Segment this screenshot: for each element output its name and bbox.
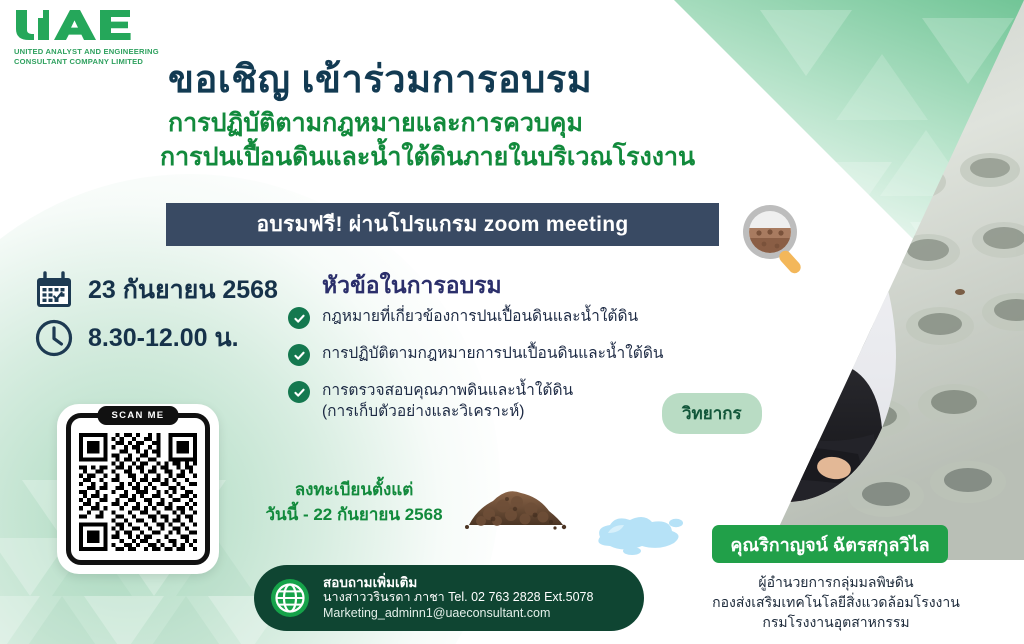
logo-tagline-line-1: UNITED ANALYST AND ENGINEERING <box>14 47 164 57</box>
water-puddle-icon <box>590 513 686 555</box>
logo-tagline: UNITED ANALYST AND ENGINEERING CONSULTAN… <box>14 47 164 67</box>
soil-pile-icon <box>463 481 569 531</box>
subtitle-line-1: การปฏิบัติตามกฎหมายและการควบคุม <box>168 106 695 140</box>
topics-heading: หัวข้อในการอบรม <box>322 268 502 304</box>
page-subtitle: การปฏิบัติตามกฎหมายและการควบคุม การปนเปื… <box>168 106 695 174</box>
topics-list: กฎหมายที่เกี่ยวข้องการปนเปื้อนดินและน้ำใ… <box>288 306 708 436</box>
speaker-name-plate: คุณริกาญจน์ ฉัตรสกุลวิไล <box>712 525 948 563</box>
credential-line-2: กองส่งเสริมเทคโนโลยีสิ่งแวดล้อมโรงงาน <box>648 592 1024 612</box>
poster-root: UNITED ANALYST AND ENGINEERING CONSULTAN… <box>0 0 1024 644</box>
credential-line-3: กรมโรงงานอุตสาหกรรม <box>648 612 1024 632</box>
check-icon <box>288 381 310 403</box>
topic-line-1: การปฏิบัติตามกฎหมายการปนเปื้อนดินและน้ำใ… <box>322 343 664 364</box>
subtitle-line-2: การปนเปื้อนดินและน้ำใต้ดินภายในบริเวณโรง… <box>160 140 695 174</box>
topic-text: การปฏิบัติตามกฎหมายการปนเปื้อนดินและน้ำใ… <box>322 343 664 364</box>
magnifier-soil-icon <box>737 202 815 276</box>
contact-email[interactable]: Marketing_adminn1@uaeconsultant.com <box>323 606 593 622</box>
speaker-credentials: ผู้อำนวยการกลุ่มมลพิษดิน กองส่งเสริมเทคโ… <box>648 572 1024 632</box>
check-icon <box>288 307 310 329</box>
topic-item: กฎหมายที่เกี่ยวข้องการปนเปื้อนดินและน้ำใ… <box>288 306 708 329</box>
brand-logo: UNITED ANALYST AND ENGINEERING CONSULTAN… <box>14 8 164 67</box>
event-date-row: 23 กันยายน 2568 <box>34 270 278 310</box>
qr-code-image[interactable] <box>79 433 197 551</box>
topic-line-1: กฎหมายที่เกี่ยวข้องการปนเปื้อนดินและน้ำใ… <box>322 306 638 327</box>
free-training-banner: อบรมฟรี! ผ่านโปรแกรม zoom meeting <box>166 203 719 246</box>
clock-icon <box>34 318 74 358</box>
contact-person: นางสาววรินรดา ภาชา Tel. 02 763 2828 Ext.… <box>323 590 593 606</box>
contact-bar[interactable]: สอบถามเพิ่มเติม นางสาววรินรดา ภาชา Tel. … <box>254 565 644 631</box>
registration-note: ลงทะเบียนตั้งแต่ วันนี้ - 22 กันยายน 256… <box>258 477 450 527</box>
speaker-badge: วิทยากร <box>662 393 762 434</box>
calendar-icon <box>34 270 74 310</box>
lab-photo-panel <box>604 0 1024 560</box>
qr-code-card[interactable]: SCAN ME <box>57 404 219 574</box>
topic-line-1: การตรวจสอบคุณภาพดินและน้ำใต้ดิน <box>322 380 573 401</box>
uae-logo-icon <box>14 8 146 42</box>
topic-item: การปฏิบัติตามกฎหมายการปนเปื้อนดินและน้ำใ… <box>288 343 708 366</box>
contact-heading: สอบถามเพิ่มเติม <box>323 575 593 591</box>
topic-text: กฎหมายที่เกี่ยวข้องการปนเปื้อนดินและน้ำใ… <box>322 306 638 327</box>
page-title: ขอเชิญ เข้าร่วมการอบรม <box>168 48 592 109</box>
registration-line-2: วันนี้ - 22 กันยายน 2568 <box>258 502 450 527</box>
scan-me-label: SCAN ME <box>98 406 179 425</box>
credential-line-1: ผู้อำนวยการกลุ่มมลพิษดิน <box>648 572 1024 592</box>
event-date: 23 กันยายน 2568 <box>88 270 278 310</box>
globe-icon <box>270 578 310 618</box>
banner-label: อบรมฟรี! ผ่านโปรแกรม zoom meeting <box>256 208 628 241</box>
contact-text: สอบถามเพิ่มเติม นางสาววรินรดา ภาชา Tel. … <box>323 575 593 622</box>
topic-item: การตรวจสอบคุณภาพดินและน้ำใต้ดิน (การเก็บ… <box>288 380 708 422</box>
topic-text: การตรวจสอบคุณภาพดินและน้ำใต้ดิน (การเก็บ… <box>322 380 573 422</box>
event-time-row: 8.30-12.00 น. <box>34 318 239 358</box>
qr-frame: SCAN ME <box>66 413 210 565</box>
logo-tagline-line-2: CONSULTANT COMPANY LIMITED <box>14 57 164 67</box>
check-icon <box>288 344 310 366</box>
registration-line-1: ลงทะเบียนตั้งแต่ <box>258 477 450 502</box>
speaker-name: คุณริกาญจน์ ฉัตรสกุลวิไล <box>730 530 929 559</box>
event-time: 8.30-12.00 น. <box>88 318 239 358</box>
topic-line-2: (การเก็บตัวอย่างและวิเคราะห์) <box>322 401 573 422</box>
